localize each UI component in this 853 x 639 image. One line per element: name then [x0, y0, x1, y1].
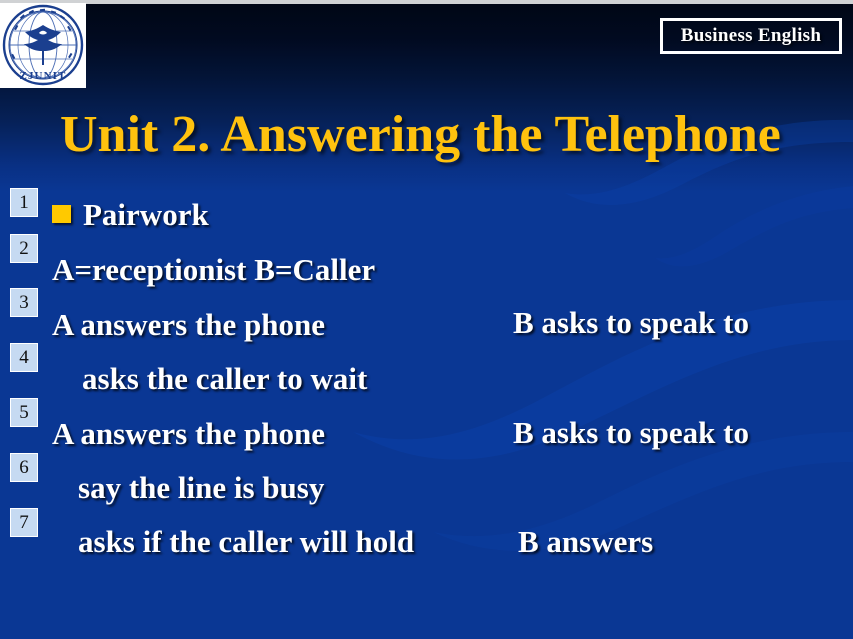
dialogue-1-left-follow: asks the caller to wait: [82, 362, 367, 396]
dialogue-1-left: A answers the phone: [52, 308, 325, 342]
slide-body: Pairwork A=receptionist B=Caller A answe…: [0, 0, 853, 639]
bullet-pairwork-label: Pairwork: [83, 198, 209, 232]
dialogue-3-right: B answers: [518, 525, 653, 559]
dialogue-3-left: asks if the caller will hold: [78, 525, 414, 559]
roles-line: A=receptionist B=Caller: [52, 253, 375, 287]
presentation-slide: ZJUNIT Business English Unit 2. Answerin…: [0, 0, 853, 639]
dialogue-2-left-follow: say the line is busy: [78, 471, 324, 505]
dialogue-2-left: A answers the phone: [52, 417, 325, 451]
dialogue-2-right: B asks to speak to: [513, 416, 749, 450]
square-bullet-icon: [52, 205, 71, 223]
dialogue-1-right: B asks to speak to: [513, 306, 749, 340]
